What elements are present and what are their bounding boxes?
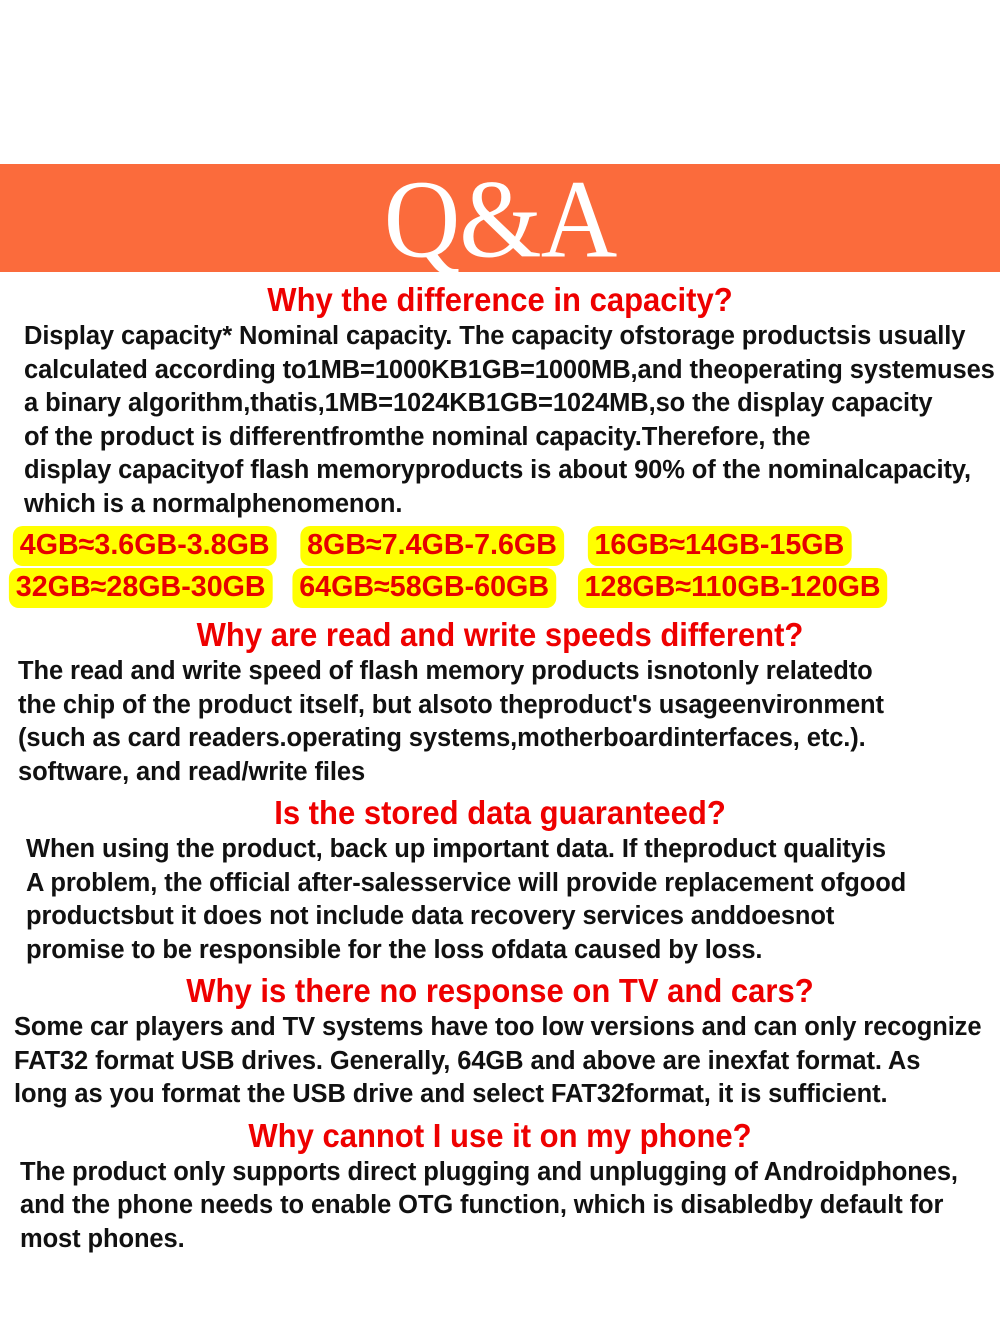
faq-section-capacity: Why the difference in capacity? Display … — [0, 272, 1000, 521]
page-title: Q&A — [384, 168, 617, 273]
capacity-cell-4gb: 4GB≈3.6GB-3.8GB — [14, 527, 276, 565]
body-line: Some car players and TV systems have too… — [14, 1011, 988, 1045]
faq-section-phone: Why cannot I use it on my phone? The pro… — [0, 1112, 1000, 1257]
body-line: (such as card readers.operating systems,… — [18, 722, 988, 756]
capacity-row: 32GB≈28GB-30GB 64GB≈58GB-60GB 128GB≈110G… — [0, 569, 988, 607]
body-line: most phones. — [20, 1223, 988, 1257]
qa-header-banner: Q&A — [0, 164, 1000, 272]
faq-content: Why the difference in capacity? Display … — [0, 272, 1000, 1256]
body-line: software, and read/write files — [18, 756, 988, 790]
faq-section-speeds: Why are read and write speeds different?… — [0, 611, 1000, 789]
body-line: The read and write speed of flash memory… — [18, 655, 988, 689]
faq-section-data-guarantee: Is the stored data guaranteed? When usin… — [0, 789, 1000, 967]
section-body-speeds: The read and write speed of flash memory… — [0, 655, 1000, 789]
section-body-tv-cars: Some car players and TV systems have too… — [0, 1011, 1000, 1112]
section-heading-phone: Why cannot I use it on my phone? — [30, 1116, 970, 1156]
body-line: When using the product, back up importan… — [26, 833, 988, 867]
capacity-cell-16gb: 16GB≈14GB-15GB — [589, 527, 851, 565]
section-heading-capacity: Why the difference in capacity? — [30, 280, 970, 320]
body-line: the chip of the product itself, but also… — [18, 689, 988, 723]
capacity-row: 4GB≈3.6GB-3.8GB 8GB≈7.4GB-7.6GB 16GB≈14G… — [0, 527, 988, 565]
body-line: which is a normalphenomenon. — [24, 488, 988, 522]
capacity-cell-8gb: 8GB≈7.4GB-7.6GB — [301, 527, 563, 565]
body-line: promise to be responsible for the loss o… — [26, 934, 988, 968]
capacity-cell-32gb: 32GB≈28GB-30GB — [10, 569, 272, 607]
capacity-conversion-table: 4GB≈3.6GB-3.8GB 8GB≈7.4GB-7.6GB 16GB≈14G… — [0, 527, 1000, 607]
body-line: of the product is differentfromthe nomin… — [24, 421, 988, 455]
body-line: and the phone needs to enable OTG functi… — [20, 1189, 988, 1223]
body-line: display capacityof flash memoryproducts … — [24, 454, 988, 488]
body-line: calculated according to1MB=1000KB1GB=100… — [24, 354, 988, 388]
section-body-capacity: Display capacity* Nominal capacity. The … — [0, 320, 1000, 521]
body-line: FAT32 format USB drives. Generally, 64GB… — [14, 1045, 988, 1079]
faq-section-tv-cars: Why is there no response on TV and cars?… — [0, 967, 1000, 1112]
body-line: productsbut it does not include data rec… — [26, 900, 988, 934]
body-line: a binary algorithm,thatis,1MB=1024KB1GB=… — [24, 387, 988, 421]
section-heading-speeds: Why are read and write speeds different? — [30, 615, 970, 655]
section-body-phone: The product only supports direct pluggin… — [0, 1156, 1000, 1257]
section-heading-tv-cars: Why is there no response on TV and cars? — [30, 971, 970, 1011]
section-body-data-guarantee: When using the product, back up importan… — [0, 833, 1000, 967]
body-line: The product only supports direct pluggin… — [20, 1156, 988, 1190]
section-heading-data-guarantee: Is the stored data guaranteed? — [30, 793, 970, 833]
body-line: Display capacity* Nominal capacity. The … — [24, 320, 988, 354]
body-line: A problem, the official after-salesservi… — [26, 867, 988, 901]
capacity-cell-64gb: 64GB≈58GB-60GB — [293, 569, 555, 607]
body-line: long as you format the USB drive and sel… — [14, 1078, 988, 1112]
capacity-cell-128gb: 128GB≈110GB-120GB — [579, 569, 887, 607]
